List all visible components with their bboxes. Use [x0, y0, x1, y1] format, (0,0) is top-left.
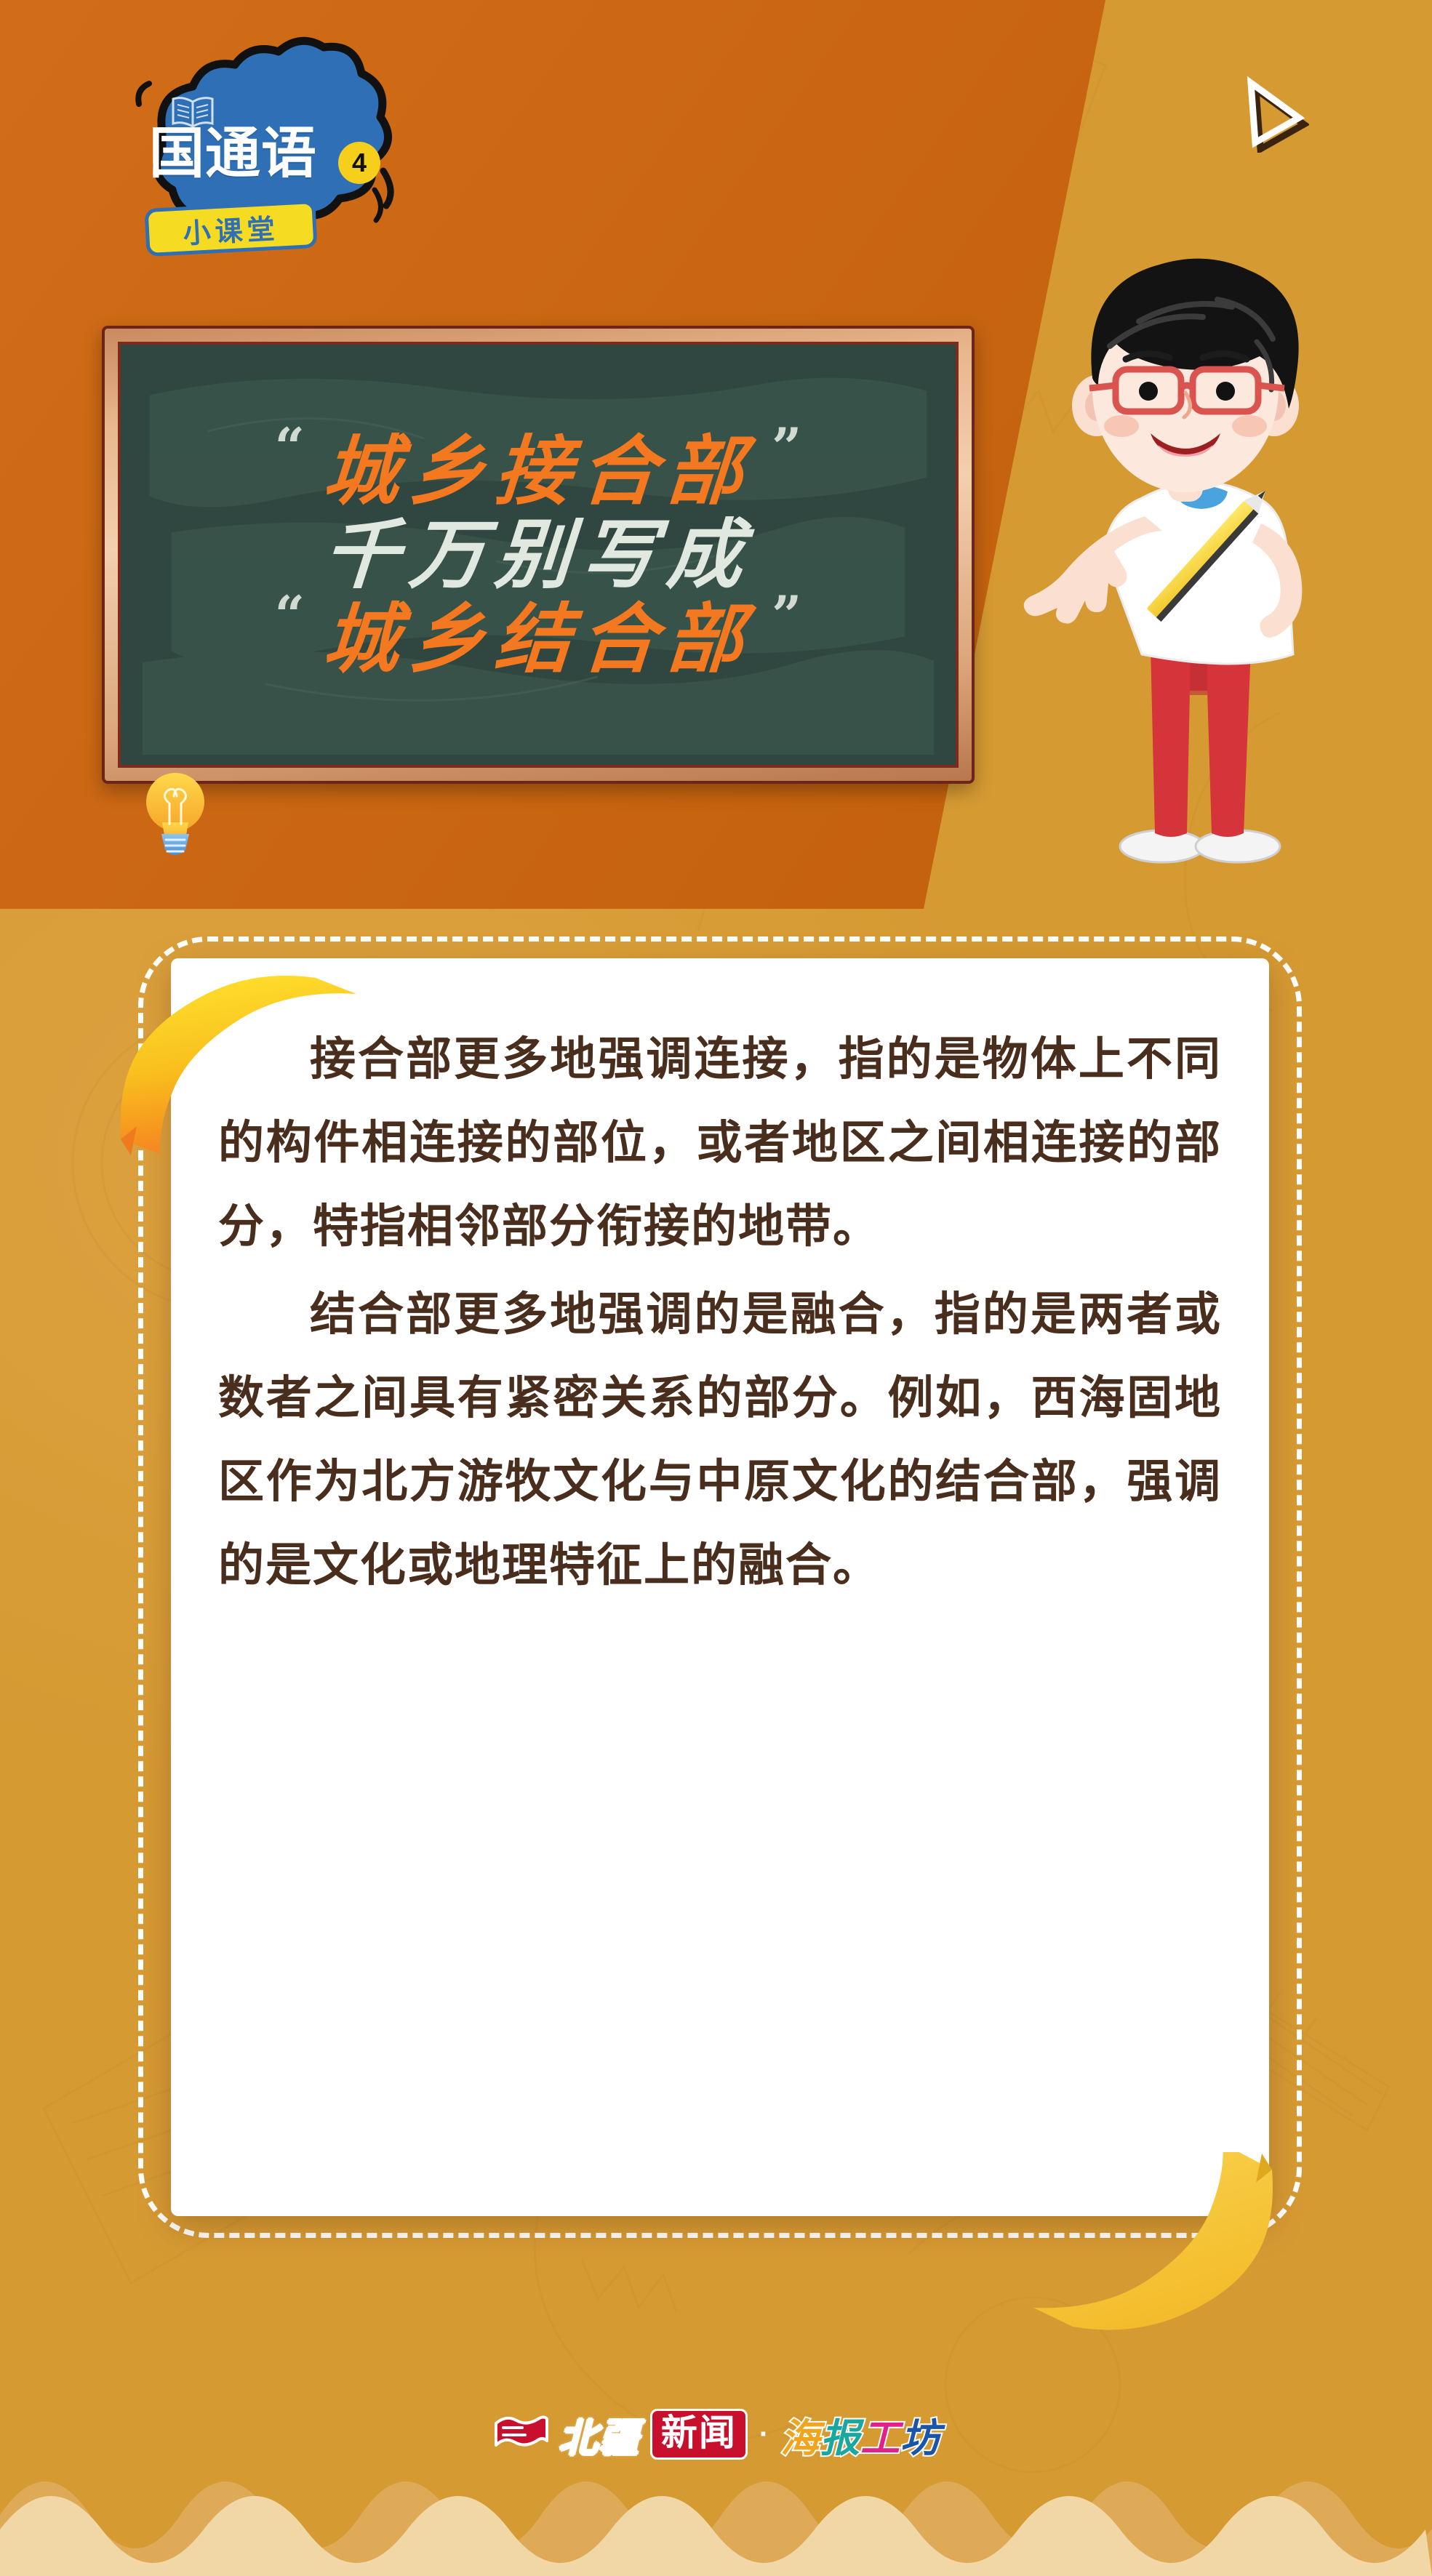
- footer-branding[interactable]: 北疆 新闻 · 海报工坊: [0, 2391, 1432, 2478]
- red-flag-icon: [492, 2412, 548, 2457]
- board-line-3-text: 城乡结合部: [321, 599, 756, 678]
- footer-separator: ·: [759, 2418, 769, 2451]
- cheek-right: [1232, 415, 1267, 437]
- poster-root: 国通语 4 小课堂: [0, 0, 1432, 2576]
- board-line-3: “ 城乡结合部 ”: [145, 599, 931, 678]
- blackboard-text: “ 城乡接合部 ” 千万别写成 “ 城乡结合部 ”: [121, 345, 956, 765]
- paragraph-1: 接合部更多地强调连接，指的是物体上不同的构件相连接的部位，或者地区之间相连接的部…: [218, 1018, 1222, 1269]
- close-quote-3: ”: [772, 599, 801, 630]
- blackboard-surface: “ 城乡接合部 ” 千万别写成 “ 城乡结合部 ”: [118, 342, 959, 768]
- open-quote-3: “: [275, 599, 305, 630]
- footer-studio-name: 海报工坊: [780, 2406, 940, 2463]
- cheek-left: [1104, 415, 1139, 437]
- studio-char-3: 工: [860, 2415, 900, 2461]
- logo-episode-badge: 4: [338, 142, 380, 184]
- bottom-wave-top: [0, 2481, 1432, 2576]
- play-triangle-icon: [1229, 73, 1309, 153]
- blackboard: “ 城乡接合部 ” 千万别写成 “ 城乡结合部 ”: [102, 326, 975, 784]
- open-quote-1: “: [275, 431, 305, 462]
- logo-title: 国通语: [149, 121, 367, 187]
- close-quote-1: ”: [772, 431, 801, 462]
- studio-char-1: 海: [780, 2415, 820, 2461]
- board-line-1-text: 城乡接合部: [321, 431, 756, 510]
- board-line-1: “ 城乡接合部 ”: [145, 431, 931, 510]
- article-body: 接合部更多地强调连接，指的是物体上不同的构件相连接的部位，或者地区之间相连接的部…: [218, 1018, 1222, 1612]
- board-line-2-text: 千万别写成: [321, 515, 756, 594]
- footer-brand-name: 北疆: [559, 2406, 640, 2463]
- brand-logo[interactable]: 国通语 4 小课堂: [105, 62, 411, 273]
- studio-char-2: 报: [820, 2415, 860, 2461]
- eye-right: [1216, 382, 1235, 401]
- logo-subtitle: 小课堂: [144, 200, 317, 257]
- paragraph-2: 结合部更多地强调的是融合，指的是两者或数者之间具有紧密关系的部分。例如，西海固地…: [218, 1273, 1222, 1608]
- studio-char-4: 坊: [900, 2415, 940, 2461]
- eye-left: [1139, 382, 1158, 401]
- boy-student-illustration: [967, 211, 1404, 872]
- ribbon-bottom-right: [978, 2152, 1284, 2370]
- lightbulb-icon: [142, 767, 209, 862]
- footer-news-badge: 新闻: [650, 2409, 748, 2460]
- board-line-2: 千万别写成: [145, 515, 931, 594]
